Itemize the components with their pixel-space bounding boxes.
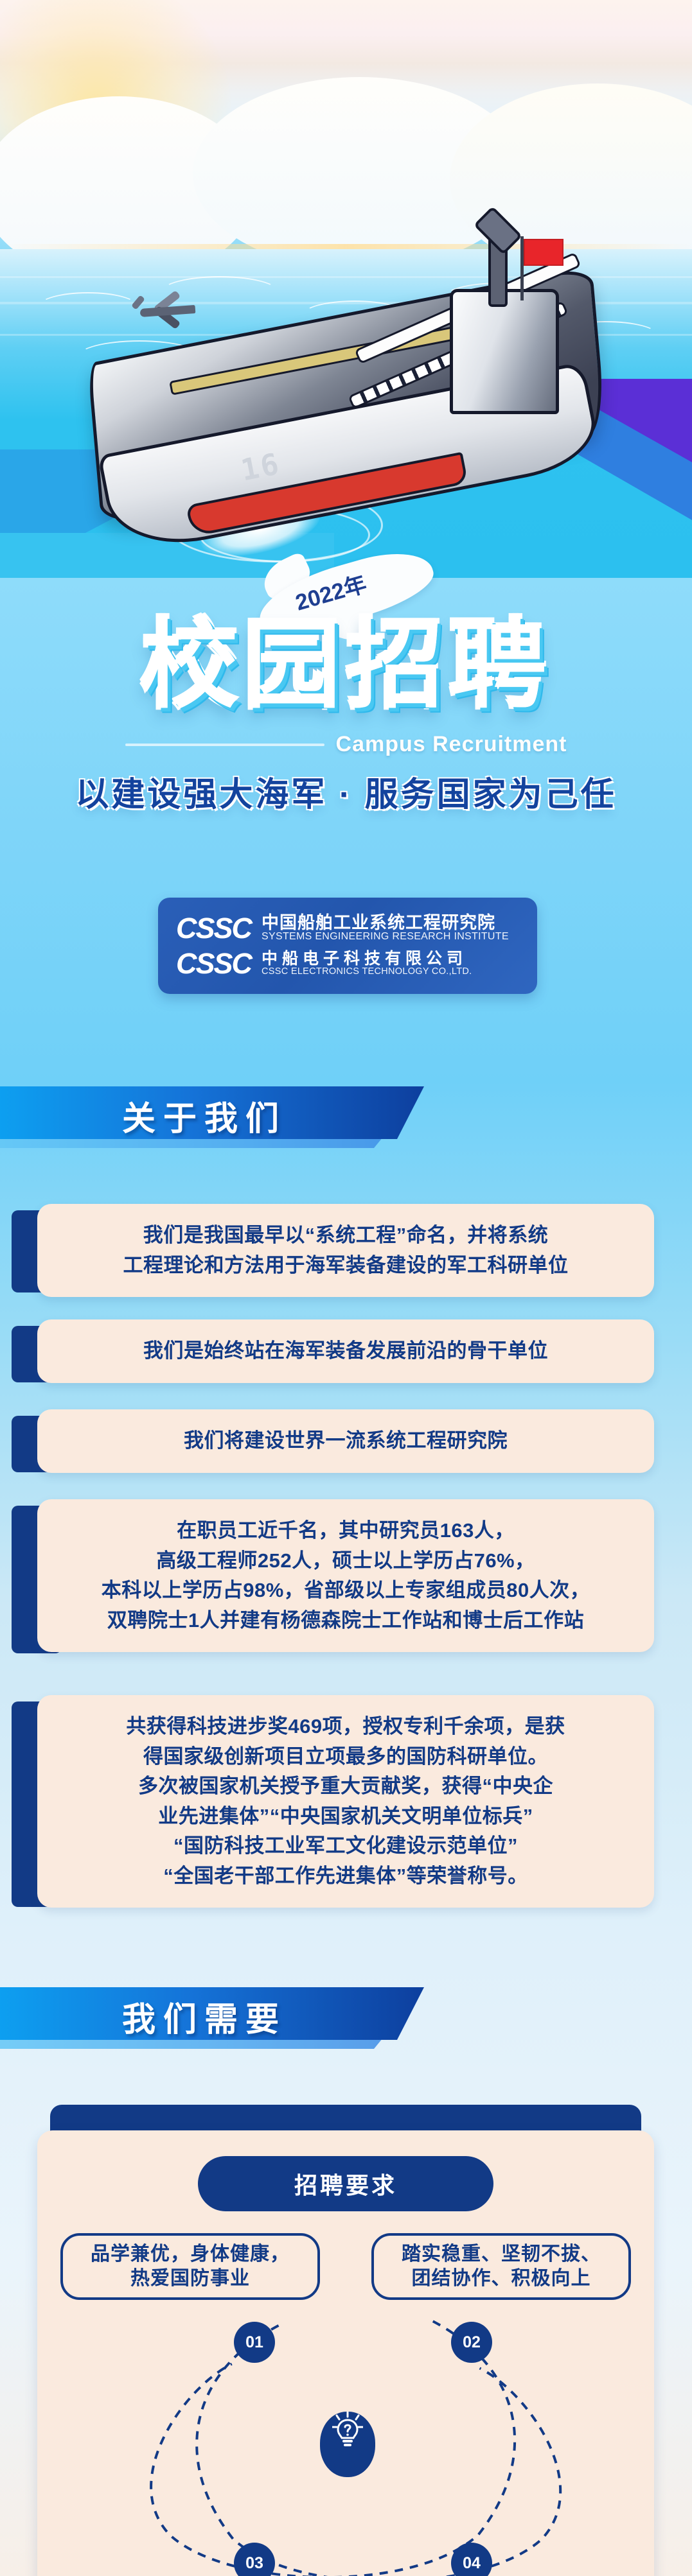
slogan: 以建设强大海军 · 服务国家为己任: [0, 767, 692, 815]
about-card-line: 我们是始终站在海军装备发展前沿的骨干单位: [143, 1339, 548, 1362]
about-card-line: 共获得科技进步奖469项，授权专利千余项，是获: [126, 1715, 565, 1737]
main-title-en: Campus Recruitment: [336, 732, 567, 757]
slogan-text: 以建设强大海军 · 服务国家为己任: [75, 776, 616, 814]
main-title-en-row: Campus Recruitment: [0, 732, 692, 757]
about-card-line: 本科以上学历占98%，省部级以上专家组成员80人次，: [102, 1579, 590, 1601]
logo-electronics-zh: 中船电子科技有限公司: [262, 950, 472, 967]
lightbulb-question-icon: [320, 2412, 375, 2477]
about-card-line: 工程理论和方法用于海军装备建设的军工科研单位: [123, 1254, 569, 1276]
requirement-line: 踏实稳重、坚韧不拔、: [402, 2243, 601, 2265]
about-card: 在职员工近千名，其中研究员163人， 高级工程师252人，硕士以上学历占76%，…: [37, 1499, 654, 1652]
about-card: 共获得科技进步奖469项，授权专利千余项，是获 得国家级创新项目立项最多的国防科…: [37, 1695, 654, 1908]
logo-row-electronics: CSSC 中船电子科技有限公司 CSSC ELECTRONICS TECHNOL…: [176, 949, 537, 978]
orbit-node-02[interactable]: 02: [451, 2322, 492, 2363]
radar-array-icon: [474, 206, 522, 255]
logo-institute-zh: 中国船舶工业系统工程研究院: [262, 914, 509, 932]
about-card-line: 我们是我国最早以“系统工程”命名，并将系统: [143, 1224, 549, 1246]
orbit-node-number: 04: [463, 2554, 481, 2573]
recruitment-poster: 16 2022年 校园招聘 Campus Recruitment 以建设强大海军…: [0, 0, 692, 2576]
requirement-line: 热爱国防事业: [130, 2268, 250, 2289]
about-card-line: 高级工程师252人，硕士以上学历占76%，: [156, 1549, 535, 1572]
cssc-logo-panel: CSSC 中国船舶工业系统工程研究院 SYSTEMS ENGINEERING R…: [158, 898, 537, 994]
requirements-title-pill: 招聘要求: [198, 2156, 493, 2211]
about-card-line: 得国家级创新项目立项最多的国防科研单位。: [143, 1745, 548, 1768]
requirements-panel: 招聘要求 品学兼优，身体健康， 热爱国防事业 踏实稳重、坚韧不拔、 团结协作、积…: [37, 2130, 654, 2576]
requirements-title: 招聘要求: [294, 2167, 397, 2200]
requirement-line: 团结协作、积极向上: [412, 2268, 591, 2289]
about-card-line: 双聘院士1人并建有杨德森院士工作站和博士后工作站: [107, 1609, 584, 1632]
about-card-line: 业先进集体”“中央国家机关文明单位标兵”: [158, 1805, 533, 1827]
about-card: 我们是我国最早以“系统工程”命名，并将系统 工程理论和方法用于海军装备建设的军工…: [37, 1204, 654, 1297]
orbit-node-number: 03: [245, 2554, 263, 2573]
requirement-item-02[interactable]: 踏实稳重、坚韧不拔、 团结协作、积极向上: [371, 2233, 631, 2300]
aircraft-carrier-illustration: 16: [71, 186, 630, 546]
fighter-jet-icon: [129, 297, 199, 327]
logo-row-institute: CSSC 中国船舶工业系统工程研究院 SYSTEMS ENGINEERING R…: [176, 914, 537, 943]
cssc-wordmark: CSSC: [176, 949, 251, 978]
page-title: 校园招聘: [0, 616, 692, 714]
hull-number: 16: [238, 446, 283, 488]
requirement-item-01[interactable]: 品学兼优，身体健康， 热爱国防事业: [60, 2233, 320, 2300]
about-card: 我们将建设世界一流系统工程研究院: [37, 1409, 654, 1473]
about-card-line: “国防科技工业军工文化建设示范单位”: [173, 1834, 518, 1857]
about-card-line: 多次被国家机关授予重大贡献奖，获得“中央企: [138, 1775, 553, 1797]
china-flag-icon: [524, 239, 563, 266]
requirement-line: 品学兼优，身体健康，: [91, 2243, 290, 2265]
about-card-line: “全国老干部工作先进集体”等荣誉称号。: [163, 1865, 528, 1887]
section-banner-needs: 我们需要: [0, 1987, 450, 2040]
requirements-row-top: 品学兼优，身体健康， 热爱国防事业 踏实稳重、坚韧不拔、 团结协作、积极向上: [60, 2233, 631, 2300]
logo-institute-en: SYSTEMS ENGINEERING RESEARCH INSTITUTE: [262, 932, 509, 943]
about-card: 我们是始终站在海军装备发展前沿的骨干单位: [37, 1319, 654, 1383]
about-card-line: 我们将建设世界一流系统工程研究院: [184, 1429, 508, 1452]
orbit-node-number: 01: [245, 2333, 263, 2352]
logo-electronics-en: CSSC ELECTRONICS TECHNOLOGY CO.,LTD.: [262, 967, 472, 977]
orbit-node-number: 02: [463, 2333, 481, 2352]
section-title-needs: 我们需要: [122, 1992, 287, 2041]
main-title-zh: 校园招聘: [141, 611, 552, 720]
section-banner-about: 关于我们: [0, 1086, 450, 1139]
about-card-line: 在职员工近千名，其中研究员163人，: [177, 1519, 515, 1542]
section-title-about: 关于我们: [122, 1092, 287, 1140]
carrier-island-tower: [450, 289, 559, 414]
title-rule: [125, 744, 324, 746]
orbit-diagram: 01 02 03 04: [60, 2304, 631, 2576]
hero-illustration: 16: [0, 0, 692, 578]
orbit-node-01[interactable]: 01: [234, 2322, 275, 2363]
cssc-wordmark: CSSC: [176, 914, 251, 943]
